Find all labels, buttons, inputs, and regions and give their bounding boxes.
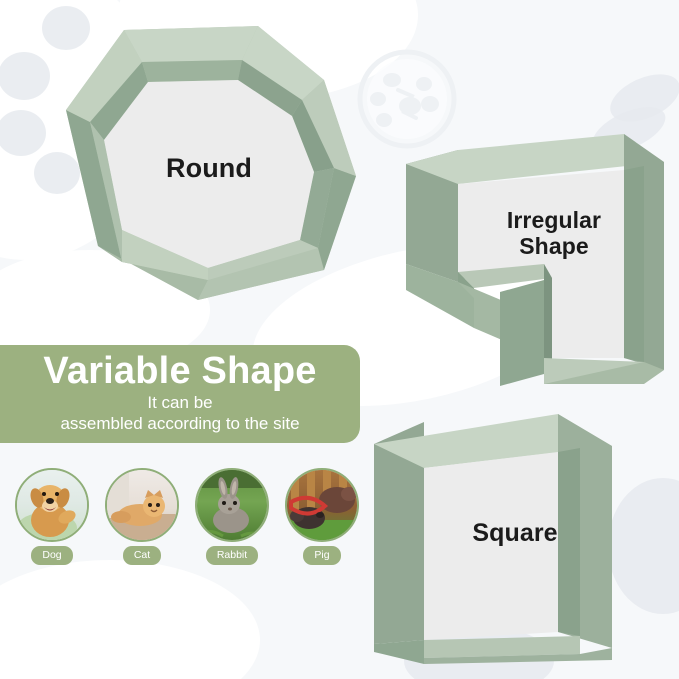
banner-subtitle-line-1: It can be <box>14 393 346 413</box>
square-pen-label: Square <box>362 402 662 670</box>
supported-pets-list: Dog Cat <box>14 468 364 566</box>
dog-photo-icon <box>15 468 89 542</box>
round-pen-label: Round <box>56 18 376 318</box>
pet-label-cat: Cat <box>123 546 161 565</box>
pet-label-rabbit: Rabbit <box>206 546 258 565</box>
variable-shape-banner: Variable Shape It can be assembled accor… <box>0 345 360 443</box>
pet-badge-rabbit[interactable]: Rabbit <box>194 468 270 565</box>
banner-subtitle-line-2: assembled according to the site <box>14 414 346 434</box>
pet-badge-dog[interactable]: Dog <box>14 468 90 565</box>
pet-label-pig: Pig <box>303 546 340 565</box>
rabbit-photo-icon <box>195 468 269 542</box>
product-feature-image: Round <box>0 0 679 679</box>
pet-label-dog: Dog <box>31 546 72 565</box>
banner-title: Variable Shape <box>14 352 346 390</box>
irregular-pen-label: Irregular Shape <box>392 122 679 402</box>
cat-photo-icon <box>105 468 179 542</box>
paw-toe-icon <box>0 52 50 100</box>
soft-blob-watermark <box>0 560 260 679</box>
pet-badge-pig[interactable]: Pig <box>284 468 360 565</box>
pig-photo-icon <box>285 468 359 542</box>
pet-badge-cat[interactable]: Cat <box>104 468 180 565</box>
paw-toe-icon <box>0 110 46 156</box>
